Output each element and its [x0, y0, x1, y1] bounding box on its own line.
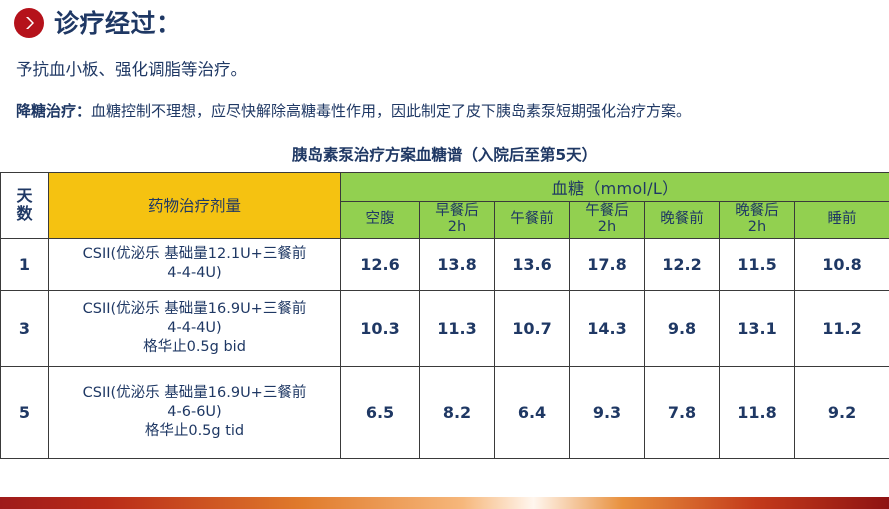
- header-sub-pre-lunch-line1: 午餐前: [498, 212, 566, 228]
- header-sub-post-lunch: 午餐后 2h: [570, 202, 645, 239]
- header-days: 天 数: [1, 173, 49, 239]
- cell-value: 17.8: [570, 238, 645, 290]
- header-sub-post-lunch-line1: 午餐后: [573, 204, 641, 220]
- cell-dose-line: CSII(优泌乐 基础量16.9U+三餐前: [52, 384, 337, 403]
- cell-value: 13.1: [720, 290, 795, 366]
- header-sub-post-breakfast-line1: 早餐后: [423, 204, 491, 220]
- header-sub-post-dinner-line1: 晚餐后: [723, 204, 791, 220]
- cell-value: 10.7: [495, 290, 570, 366]
- header-days-line1: 天: [4, 187, 45, 205]
- header-sub-post-dinner-line2: 2h: [723, 220, 791, 236]
- cell-value: 13.8: [420, 238, 495, 290]
- cell-value: 8.2: [420, 366, 495, 458]
- header-days-line2: 数: [4, 205, 45, 223]
- cell-value: 11.2: [795, 290, 889, 366]
- header-sub-pre-dinner-line1: 晚餐前: [648, 212, 716, 228]
- cell-value: 7.8: [645, 366, 720, 458]
- cell-value: 9.3: [570, 366, 645, 458]
- cell-value: 6.5: [341, 366, 420, 458]
- header-sub-bedtime-line1: 睡前: [798, 212, 886, 228]
- header-sub-post-breakfast-line2: 2h: [423, 220, 491, 236]
- cell-day: 1: [1, 238, 49, 290]
- cell-dose-line: 4-4-4U): [52, 264, 337, 283]
- cell-value: 10.8: [795, 238, 889, 290]
- chevron-right-circle-icon: [14, 8, 44, 38]
- glucose-lowering-text: 血糖控制不理想，应尽快解除高糖毒性作用，因此制定了皮下胰岛素泵短期强化治疗方案。: [91, 102, 691, 120]
- glucose-lowering-paragraph: 降糖治疗：血糖控制不理想，应尽快解除高糖毒性作用，因此制定了皮下胰岛素泵短期强化…: [0, 100, 889, 121]
- cell-value: 11.5: [720, 238, 795, 290]
- cell-value: 11.8: [720, 366, 795, 458]
- page-title-text: 诊疗经过：: [54, 11, 182, 36]
- cell-dose-line: 格华止0.5g tid: [52, 422, 337, 441]
- cell-day: 5: [1, 366, 49, 458]
- glucose-lowering-label: 降糖治疗：: [16, 102, 91, 120]
- cell-value: 6.4: [495, 366, 570, 458]
- header-sub-post-dinner: 晚餐后 2h: [720, 202, 795, 239]
- cell-dose-line: CSII(优泌乐 基础量16.9U+三餐前: [52, 300, 337, 319]
- cell-dose-line: 4-4-4U): [52, 319, 337, 338]
- cell-value: 9.2: [795, 366, 889, 458]
- header-sub-post-lunch-line2: 2h: [573, 220, 641, 236]
- cell-dose-line: CSII(优泌乐 基础量12.1U+三餐前: [52, 245, 337, 264]
- cell-dose: CSII(优泌乐 基础量16.9U+三餐前 4-6-6U) 格华止0.5g ti…: [49, 366, 341, 458]
- cell-value: 11.3: [420, 290, 495, 366]
- table-title: 胰岛素泵治疗方案血糖谱（入院后至第5天）: [0, 143, 889, 165]
- cell-value: 13.6: [495, 238, 570, 290]
- table-header-row-group: 天 数 药物治疗剂量 血糖（mmol/L）: [1, 173, 889, 202]
- table-row: 1 CSII(优泌乐 基础量12.1U+三餐前 4-4-4U) 12.6 13.…: [1, 238, 889, 290]
- bottom-decorative-bar: [0, 497, 889, 509]
- cell-dose-line: 格华止0.5g bid: [52, 338, 337, 357]
- glucose-profile-table: 天 数 药物治疗剂量 血糖（mmol/L） 空腹 早餐后 2h 午餐前 午餐后 …: [0, 172, 889, 459]
- header-sub-pre-dinner: 晚餐前: [645, 202, 720, 239]
- header-dose: 药物治疗剂量: [49, 173, 341, 239]
- header-sub-pre-lunch: 午餐前: [495, 202, 570, 239]
- treatment-summary-paragraph: 予抗血小板、强化调脂等治疗。: [0, 56, 889, 80]
- cell-value: 12.2: [645, 238, 720, 290]
- cell-dose-line: 4-6-6U): [52, 403, 337, 422]
- cell-value: 9.8: [645, 290, 720, 366]
- table-row: 3 CSII(优泌乐 基础量16.9U+三餐前 4-4-4U) 格华止0.5g …: [1, 290, 889, 366]
- cell-dose: CSII(优泌乐 基础量16.9U+三餐前 4-4-4U) 格华止0.5g bi…: [49, 290, 341, 366]
- table-row: 5 CSII(优泌乐 基础量16.9U+三餐前 4-6-6U) 格华止0.5g …: [1, 366, 889, 458]
- header-glucose-group: 血糖（mmol/L）: [341, 173, 889, 202]
- cell-value: 10.3: [341, 290, 420, 366]
- header-sub-post-breakfast: 早餐后 2h: [420, 202, 495, 239]
- cell-value: 14.3: [570, 290, 645, 366]
- header-sub-bedtime: 睡前: [795, 202, 889, 239]
- cell-value: 12.6: [341, 238, 420, 290]
- cell-dose: CSII(优泌乐 基础量12.1U+三餐前 4-4-4U): [49, 238, 341, 290]
- header-sub-fasting-line1: 空腹: [344, 212, 416, 228]
- header-sub-fasting: 空腹: [341, 202, 420, 239]
- page-title: 诊疗经过：: [0, 0, 889, 38]
- cell-day: 3: [1, 290, 49, 366]
